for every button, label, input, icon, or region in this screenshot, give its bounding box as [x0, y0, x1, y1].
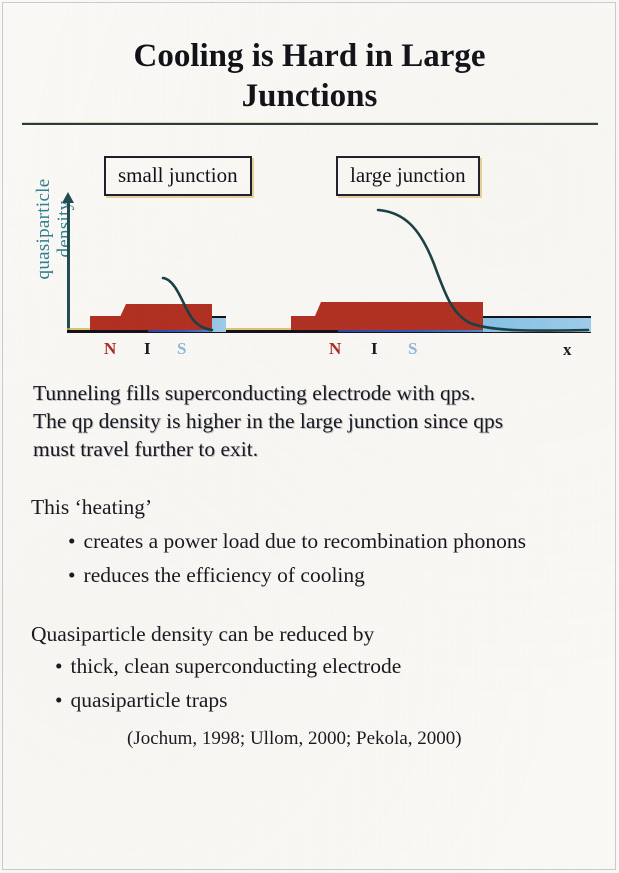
heading-quasiparticle-density: Quasiparticle density can be reduced by	[31, 620, 374, 648]
bullet-thick-clean-electrode: thick, clean superconducting electrode	[55, 652, 401, 680]
bullet-power-load: creates a power load due to recombinatio…	[68, 527, 526, 555]
tick-label-large-n: N	[329, 339, 341, 359]
bullet-quasiparticle-traps: quasiparticle traps	[55, 686, 228, 714]
heading-this-heating: This ‘heating’	[31, 493, 152, 521]
paragraph-tunneling-line-2: The qp density is higher in the large ju…	[33, 407, 503, 435]
tick-label-small-n: N	[104, 339, 116, 359]
x-axis-tick-label: x	[563, 340, 572, 360]
paragraph-tunneling-line-3: must travel further to exit.	[33, 435, 258, 463]
bullet-reduces-efficiency: reduces the efficiency of cooling	[68, 561, 365, 589]
slide-root: Cooling is Hard in Large Junctions small…	[0, 0, 619, 873]
title-divider-rule	[22, 123, 598, 125]
tick-label-large-s: S	[408, 339, 417, 359]
tick-label-large-i: I	[371, 339, 378, 359]
tick-label-small-i: I	[144, 339, 151, 359]
page-title: Cooling is Hard in Large Junctions	[30, 36, 589, 116]
citation-references: (Jochum, 1998; Ullom, 2000; Pekola, 2000…	[127, 727, 462, 751]
paragraph-tunneling-line-1: Tunneling fills superconducting electrod…	[33, 379, 475, 407]
page-title-line-1: Cooling is Hard in Large	[133, 38, 485, 74]
tick-label-small-s: S	[177, 339, 186, 359]
junction-diagram: small junction large junction quasiparti…	[0, 148, 619, 373]
large-junction-ramp-and-curve	[0, 148, 619, 373]
page-title-line-2: Junctions	[242, 78, 378, 114]
